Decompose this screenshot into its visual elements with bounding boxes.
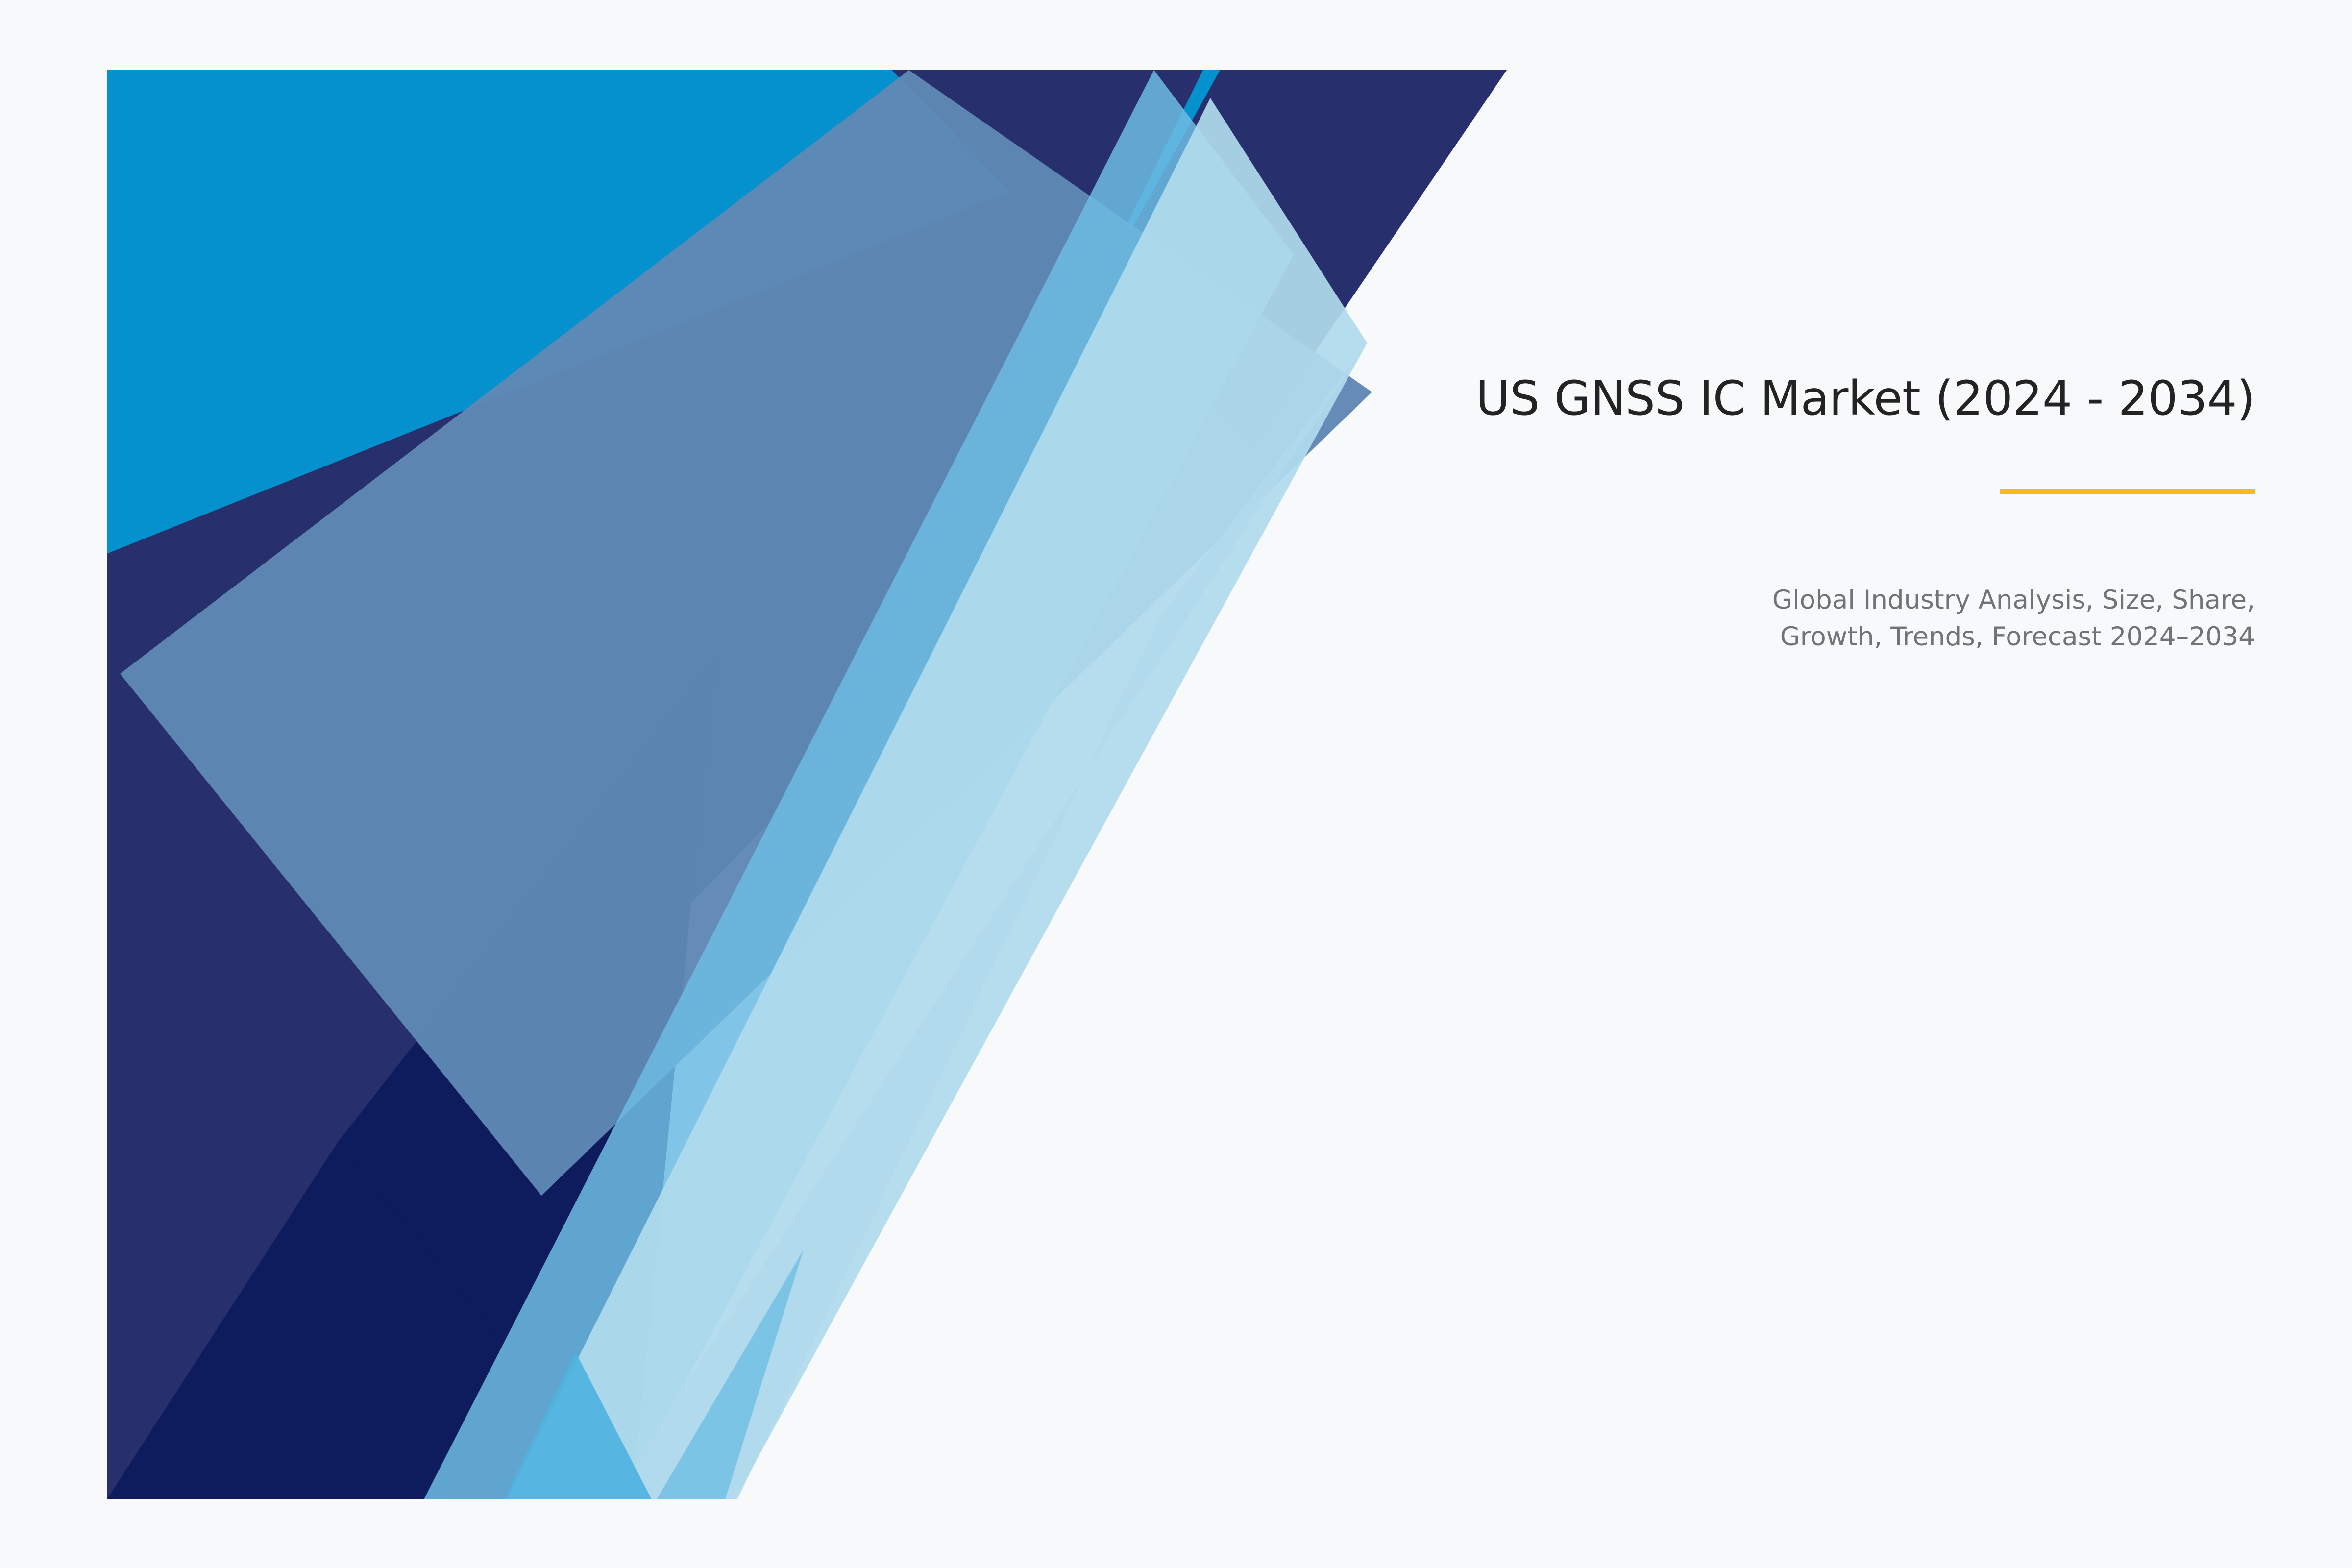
accent-rule-container — [834, 489, 2255, 494]
yellow-accent-rule — [2000, 489, 2255, 494]
page-subtitle: Global Industry Analysis, Size, Share, G… — [834, 582, 2255, 656]
subtitle-line-2: Growth, Trends, Forecast 2024–2034 — [834, 618, 2255, 655]
report-cover-page: US GNSS IC Market (2024 - 2034) Global I… — [0, 0, 2352, 1568]
abstract-polygon-graphic — [0, 0, 2352, 1568]
cover-text-block: US GNSS IC Market (2024 - 2034) Global I… — [834, 372, 2255, 655]
page-title: US GNSS IC Market (2024 - 2034) — [834, 372, 2255, 425]
subtitle-line-1: Global Industry Analysis, Size, Share, — [834, 582, 2255, 618]
